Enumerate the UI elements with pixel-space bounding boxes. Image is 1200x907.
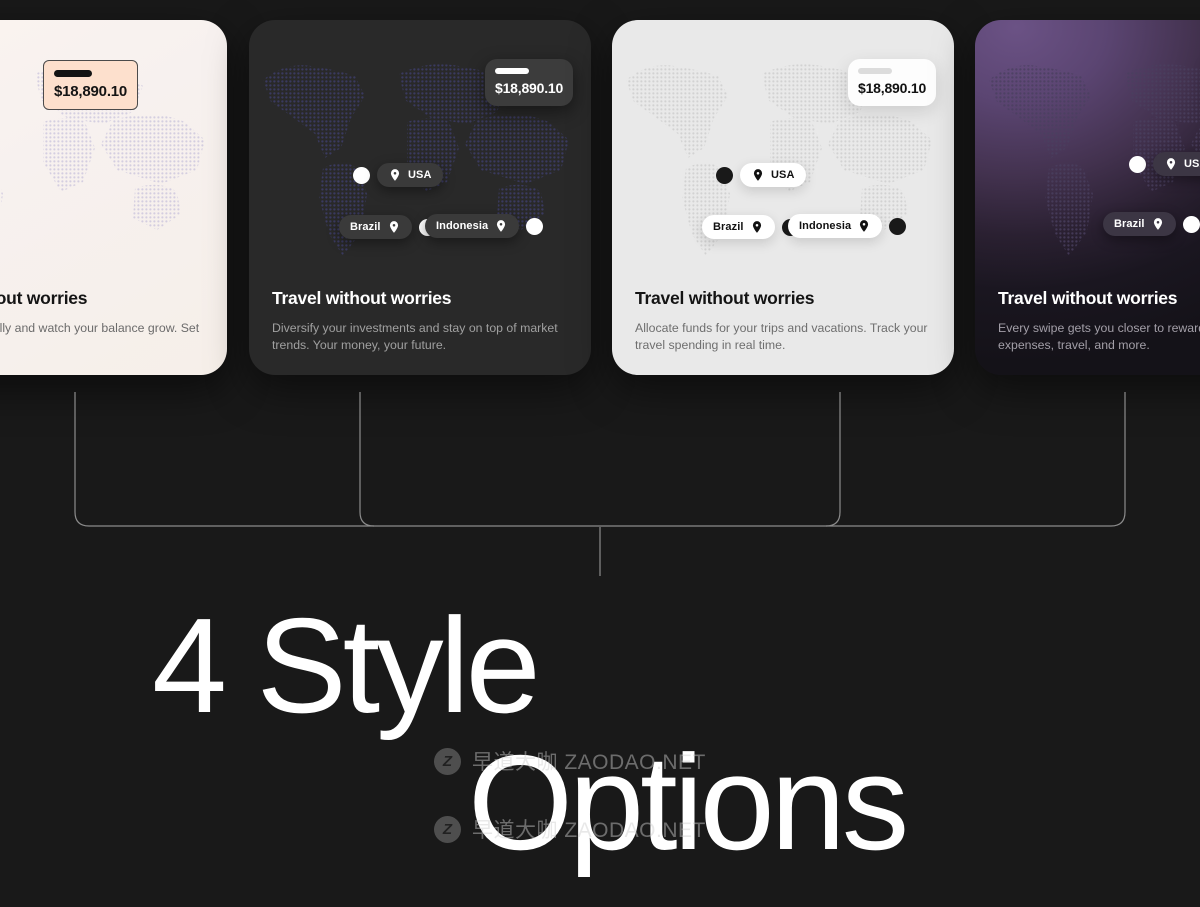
map-pin-brazil[interactable]: Brazil [702,215,799,239]
zaodao-logo-icon: Z [434,748,461,775]
balance-chip: $18,890.10 [485,59,573,106]
location-pin-icon [494,219,508,233]
hero-line-1: 4 Style [152,598,537,733]
pin-pill-usa[interactable]: USA [740,163,806,187]
balance-amount: $18,890.10 [858,80,926,96]
pin-pill-usa[interactable]: USA [377,163,443,187]
pin-label: USA [408,169,432,181]
map-dot-icon [526,218,543,235]
location-pin-icon [1151,217,1165,231]
location-pin-icon [857,219,871,233]
card-description: Save automatically and watch your balanc… [0,320,207,355]
style-card-purple[interactable]: $18,890.10 USA Brazil Travel without wor… [975,20,1200,375]
balance-amount: $18,890.10 [495,80,563,96]
pin-pill-indonesia[interactable]: Indonesia [788,214,882,238]
chip-bar [54,70,92,77]
map-pin-brazil[interactable]: Brazil [1103,212,1200,236]
pin-label: Indonesia [799,220,851,232]
connector-outer-bracket [75,392,1125,526]
watermark-text: 早道大咖 ZAODAO.NET [472,814,706,844]
card-description: Diversify your investments and stay on t… [272,320,571,355]
pin-pill-brazil[interactable]: Brazil [1103,212,1176,236]
card-description: Allocate funds for your trips and vacati… [635,320,934,355]
location-pin-icon [1164,157,1178,171]
pin-label: Brazil [713,221,744,233]
map-pin-indonesia[interactable]: Indonesia [425,214,543,238]
page-root: $18,890.10 USA Brazil Indonesia [0,0,1200,907]
pin-label: USA [1184,158,1200,170]
watermark-text: 早道大咖 ZAODAO.NET [472,746,706,776]
connector-card2-stem [360,392,374,526]
map-dot-icon [716,167,733,184]
watermark-bottom: Z 早道大咖 ZAODAO.NET [434,814,706,844]
chip-bar [858,68,892,74]
pin-pill-indonesia[interactable]: Indonesia [425,214,519,238]
card-title: Travel without worries [0,288,207,309]
card-title: Travel without worries [272,288,571,309]
map-dot-icon [1183,216,1200,233]
card-text-block: Travel without worries Allocate funds fo… [635,288,934,355]
style-card-light[interactable]: $18,890.10 USA Brazil Indonesia [612,20,954,375]
location-pin-icon [387,220,401,234]
connector-lines [0,380,1200,595]
map-pin-usa[interactable]: USA [353,163,443,187]
card-text-block: Travel without worries Diversify your in… [272,288,571,355]
style-options-card-row: $18,890.10 USA Brazil Indonesia [0,0,1200,395]
card-description: Every swipe gets you closer to rewards, … [998,320,1200,355]
pin-label: USA [771,169,795,181]
balance-chip: $18,890.10 [43,60,138,110]
card-text-block: Travel without worries Save automaticall… [0,288,207,355]
pin-pill-brazil[interactable]: Brazil [339,215,412,239]
balance-chip: $18,890.10 [848,59,936,106]
map-pin-usa[interactable]: USA [1129,152,1200,176]
hero-section: 4 Style Options [0,575,1200,907]
chip-bar [495,68,529,74]
map-dot-icon [353,167,370,184]
map-pin-indonesia[interactable]: Indonesia [788,214,906,238]
card-text-block: Travel without worries Every swipe gets … [998,288,1200,355]
map-dot-icon [1129,156,1146,173]
connector-card3-stem [826,392,840,526]
card-title: Travel without worries [998,288,1200,309]
map-pin-usa[interactable]: USA [716,163,806,187]
pin-label: Brazil [1114,218,1145,230]
pin-label: Brazil [350,221,381,233]
location-pin-icon [751,168,765,182]
style-card-dark[interactable]: $18,890.10 USA Brazil Indonesia [249,20,591,375]
watermark-top: Z 早道大咖 ZAODAO.NET [434,746,706,776]
map-dot-icon [889,218,906,235]
balance-amount: $18,890.10 [54,83,127,100]
card-title: Travel without worries [635,288,934,309]
pin-pill-brazil[interactable]: Brazil [702,215,775,239]
pin-pill-usa[interactable]: USA [1153,152,1200,176]
location-pin-icon [388,168,402,182]
zaodao-logo-icon: Z [434,816,461,843]
location-pin-icon [750,220,764,234]
map-pin-brazil[interactable]: Brazil [339,215,436,239]
pin-label: Indonesia [436,220,488,232]
style-card-cream[interactable]: $18,890.10 USA Brazil Indonesia [0,20,227,375]
